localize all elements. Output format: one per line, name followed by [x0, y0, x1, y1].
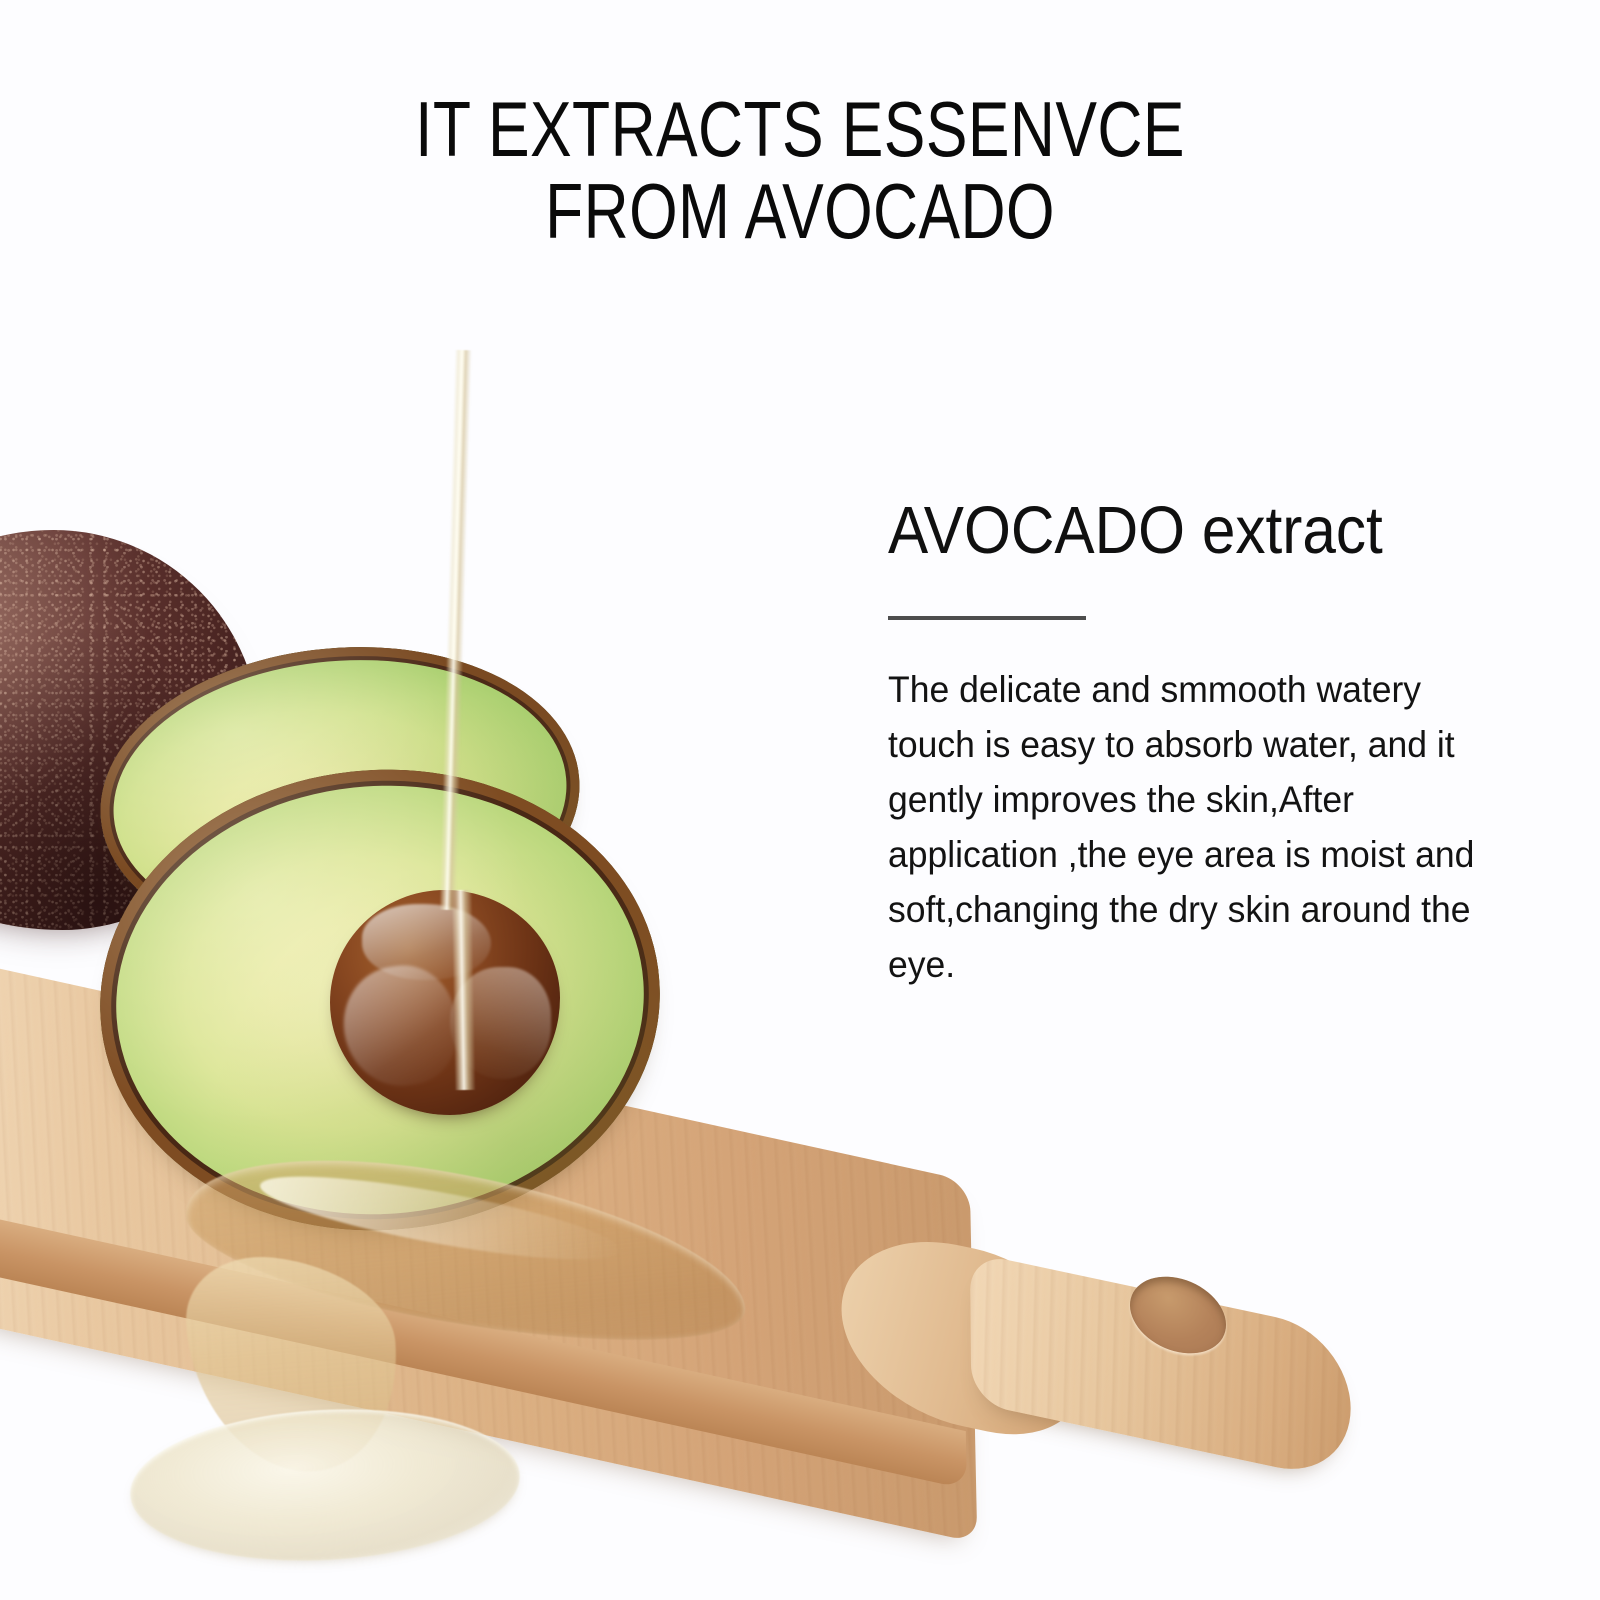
- oil-stream-lower: [451, 890, 475, 1090]
- product-feature-page: IT EXTRACTS ESSENVCE FROM AVOCADO AVOCAD…: [0, 0, 1600, 1600]
- ingredient-description: The delicate and smmooth watery touch is…: [888, 662, 1502, 992]
- ingredient-title: AVOCADO extract: [888, 494, 1482, 568]
- page-headline: IT EXTRACTS ESSENVCE FROM AVOCADO: [160, 88, 1440, 252]
- ingredient-panel: AVOCADO extract The delicate and smmooth…: [888, 494, 1548, 992]
- title-divider: [888, 616, 1086, 620]
